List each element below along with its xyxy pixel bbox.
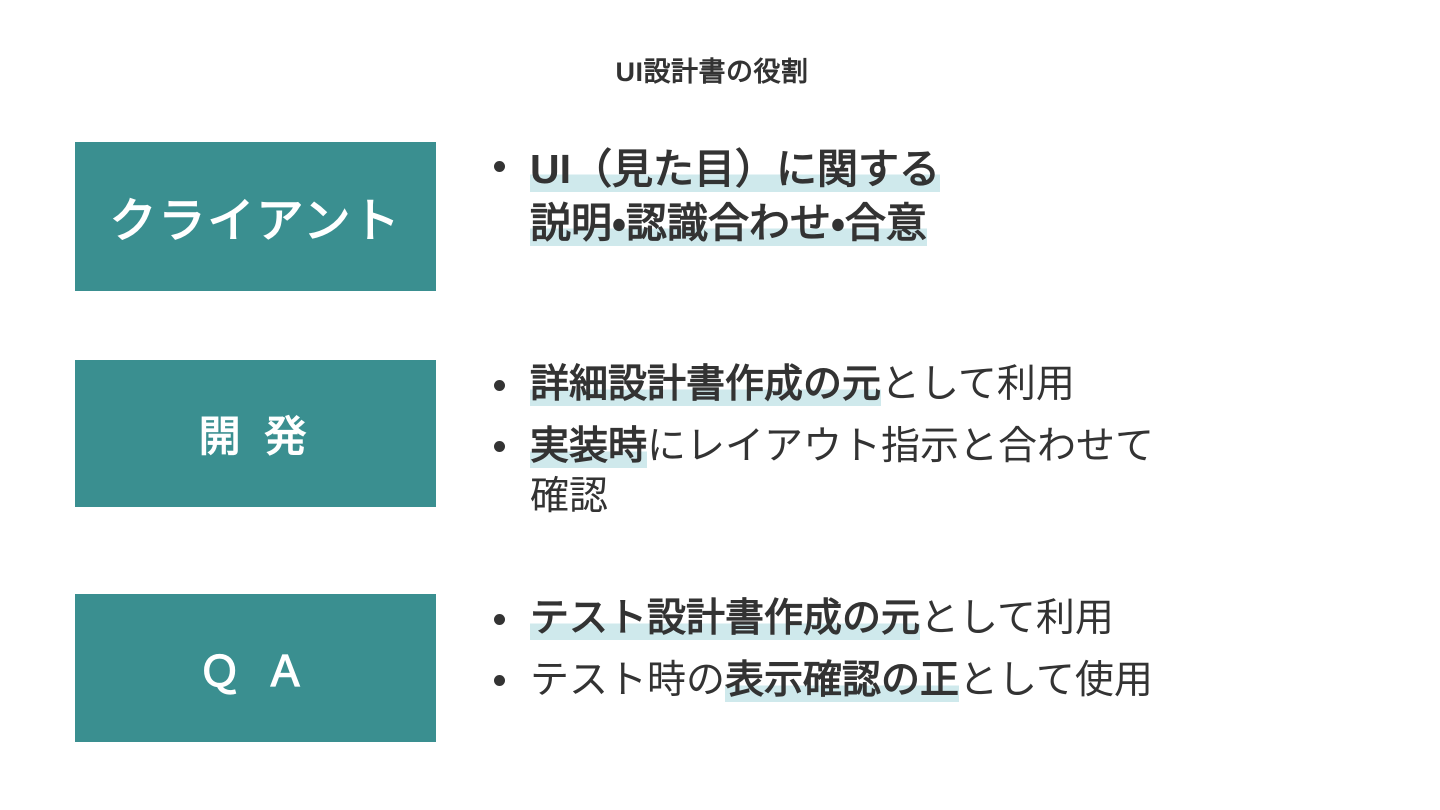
bullet-list-qa: テスト設計書作成の元として利用テスト時の表示確認の正として使用: [488, 594, 1388, 706]
role-label-text: Ｑ Ａ: [199, 638, 313, 699]
bullet-line: 説明・認識合わせ・合意: [530, 196, 1388, 250]
bullet-line: 確認: [530, 472, 1388, 522]
highlighted-text: テスト設計書作成の元: [530, 597, 920, 640]
role-label-text: 開 発: [199, 403, 313, 464]
role-label-text: クライアント: [109, 182, 401, 251]
bullet-line: UI（見た目）に関する: [530, 142, 1388, 196]
bullet-text: として利用: [881, 363, 1075, 406]
highlighted-text: UI（見た目）に関する: [530, 146, 940, 192]
bullet-dot-icon: [494, 441, 505, 452]
bullet-dot-icon: [494, 614, 505, 625]
bullet-text: として使用: [959, 659, 1153, 702]
bullet-dot-icon: [494, 380, 505, 391]
bullet-list-development: 詳細設計書作成の元として利用実装時にレイアウト指示と合わせて確認: [488, 360, 1388, 522]
bullet-text: テスト時の: [530, 659, 725, 702]
bullet-item: 詳細設計書作成の元として利用: [488, 360, 1388, 410]
bullet-item: テスト設計書作成の元として利用: [488, 594, 1388, 644]
bullet-text: として利用: [920, 597, 1114, 640]
slide-canvas: UI設計書の役割 クライアント UI（見た目）に関する説明・認識合わせ・合意 開…: [0, 0, 1440, 810]
bullet-text: 確認: [530, 475, 608, 518]
bullet-dot-icon: [494, 675, 505, 686]
highlighted-text: 説明・認識合わせ・合意: [530, 200, 927, 246]
bullet-list-client: UI（見た目）に関する説明・認識合わせ・合意: [488, 142, 1388, 250]
bullet-item: テスト時の表示確認の正として使用: [488, 656, 1388, 706]
bullet-item: UI（見た目）に関する説明・認識合わせ・合意: [488, 142, 1388, 250]
role-label-box-qa: Ｑ Ａ: [75, 594, 436, 742]
bullet-line: 詳細設計書作成の元として利用: [530, 360, 1388, 410]
bullet-item: 実装時にレイアウト指示と合わせて確認: [488, 422, 1388, 522]
bullet-dot-icon: [494, 161, 505, 172]
bullet-text: にレイアウト指示と合わせて: [647, 425, 1154, 468]
highlighted-text: 表示確認の正: [725, 659, 959, 702]
highlighted-text: 実装時: [530, 425, 647, 468]
bullet-line: 実装時にレイアウト指示と合わせて: [530, 422, 1388, 472]
role-label-box-client: クライアント: [75, 142, 436, 291]
role-label-box-development: 開 発: [75, 360, 436, 507]
bullet-line: テスト時の表示確認の正として使用: [530, 656, 1388, 706]
bullet-line: テスト設計書作成の元として利用: [530, 594, 1388, 644]
page-title: UI設計書の役割: [0, 50, 1432, 89]
highlighted-text: 詳細設計書作成の元: [530, 363, 881, 406]
